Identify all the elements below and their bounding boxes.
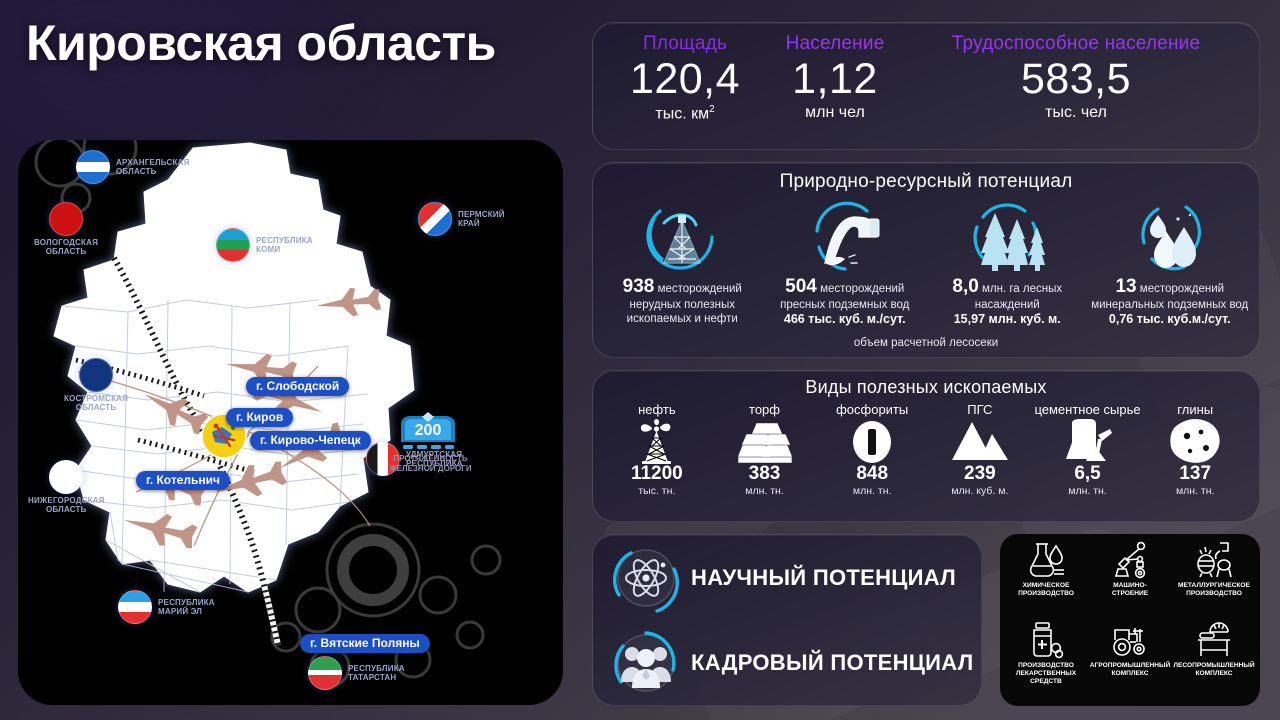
svg-text:200: 200 [415, 422, 442, 439]
industry-label: МАШИНО- СТРОЕНИЕ [1112, 582, 1148, 598]
region-label: ПЕРМСКИЙ КРАЙ [458, 210, 505, 228]
perm-flag [418, 202, 452, 236]
minerals-title: Виды полезных ископаемых [593, 377, 1259, 398]
stat-population-label: Население [786, 33, 885, 55]
tatarstan-flag [308, 656, 342, 690]
industry-item-pharma[interactable]: ПРОИЗВОДСТВО ЛЕКАРСТВЕННЫХ СРЕДСТВ [1004, 620, 1088, 700]
kostroma-flag [79, 358, 113, 392]
potential-item-human[interactable]: КАДРОВЫЙ ПОТЕНЦИАЛ [593, 620, 981, 705]
industry-label: МЕТАЛЛУРГИЧЕСКОЕ ПРОИЗВОДСТВО [1178, 582, 1250, 598]
minerals-panel: Виды полезных ископаемых нефть [592, 370, 1260, 522]
mineral-item-oil: нефть [603, 402, 711, 497]
region-badge-perm[interactable]: ПЕРМСКИЙ КРАЙ [418, 202, 505, 236]
stat-workforce-unit: тыс. чел [1045, 104, 1107, 122]
region-badge-komi[interactable]: РЕСПУБЛИКА КОМИ [216, 228, 313, 262]
city-pill-kirov[interactable]: г. Киров [226, 408, 293, 427]
nrp-desc: пресных подземных вод [780, 298, 909, 312]
atom-icon [607, 539, 685, 617]
mineral-unit: млн. тн. [853, 485, 892, 497]
nrp-desc: минеральных подземных вод [1091, 298, 1248, 312]
nrp-value: 8,0 [952, 276, 978, 297]
region-badge-tatarstan[interactable]: РЕСПУБЛИКА ТАТАРСТАН [308, 656, 405, 690]
region-label: РЕСПУБЛИКА МАРИЙ ЭЛ [158, 598, 215, 616]
nrp-value: 938 [623, 276, 655, 297]
mineral-unit: тыс. тн. [638, 485, 675, 497]
mineral-value: 137 [1179, 464, 1211, 485]
oil-rig-icon [626, 418, 688, 464]
stat-area: Площадь 120,4 тыс. км2 [609, 33, 761, 137]
city-pill-kirovo-chepetsk[interactable]: г. Кирово-Чепецк [250, 431, 371, 450]
city-pill-vyatskie-polyany[interactable]: г. Вятские Поляны [300, 634, 430, 653]
stat-area-unit: тыс. км2 [655, 104, 714, 123]
arhangelsk-flag [76, 150, 110, 184]
komi-flag [216, 228, 250, 262]
cement-bag-icon [1057, 418, 1119, 464]
railway-length-caption: ПРОТЯЖЕННОСТЬ ЖЕЛЕЗНОЙ ДОРОГИ [378, 454, 483, 473]
city-pill-slobodskoy[interactable]: г. Слободской [246, 377, 349, 396]
nizhny-flag [49, 460, 83, 494]
medicine-bottle-icon [1026, 620, 1066, 660]
region-label: КОСТРОМСКАЯ ОБЛАСТЬ [64, 394, 128, 412]
region-label: ВОЛОГОДСКАЯ ОБЛАСТЬ [34, 238, 98, 256]
mineral-unit: млн. куб. м. [951, 485, 1008, 497]
nrp-item-forest: 8,0 млн. га лесных насаждений 15,97 млн.… [926, 197, 1089, 327]
metallurgy-icon [1194, 540, 1234, 580]
railway-length-badge[interactable]: 200 [395, 412, 461, 454]
region-label: РЕСПУБЛИКА ТАТАРСТАН [348, 664, 405, 682]
mineral-value: 848 [856, 464, 888, 485]
nrp-unit: млн. га лесных [982, 283, 1062, 295]
nrp-desc: нерудных полезных ископаемых и нефти [623, 298, 742, 326]
water-drops-icon [1122, 197, 1218, 275]
region-map-card[interactable]: АРХАНГЕЛЬСКАЯ ОБЛАСТЬ ВОЛОГОДСКАЯ ОБЛАСТ… [18, 140, 563, 705]
nrp-value: 13 [1115, 276, 1136, 297]
stat-workforce: Трудоспособное население 583,5 тыс. чел [909, 33, 1243, 137]
oil-derrick-icon [634, 197, 730, 275]
nrp-item-oil: 938 месторождений нерудных полезных иско… [601, 197, 764, 327]
natural-resource-potential-panel: Природно-ресурсный потенциал [592, 162, 1260, 358]
mineral-item-phosphorite: фосфориты 848 млн. тн. [818, 402, 926, 497]
industry-item-machinery[interactable]: МАШИНО- СТРОЕНИЕ [1088, 540, 1172, 620]
water-pipe-icon [797, 197, 893, 275]
stat-population: Население 1,12 млн чел [761, 33, 909, 137]
city-pill-kotelnich[interactable]: г. Котельнич [136, 471, 230, 490]
forest-trees-icon [959, 197, 1055, 275]
region-badge-mariel[interactable]: РЕСПУБЛИКА МАРИЙ ЭЛ [118, 590, 215, 624]
people-icon [607, 624, 685, 702]
mineral-name: фосфориты [836, 402, 908, 417]
industry-label: ПРОИЗВОДСТВО ЛЕКАРСТВЕННЫХ СРЕДСТВ [1016, 662, 1076, 687]
mineral-unit: млн. тн. [1068, 485, 1107, 497]
nrp-item-mineral-water: 13 месторождений минеральных подземных в… [1089, 197, 1252, 327]
region-badge-nizhny[interactable]: НИЖЕГОРОДСКАЯ ОБЛАСТЬ [28, 460, 105, 514]
clay-lump-icon [1164, 418, 1226, 464]
nrp-unit: месторождений [1140, 283, 1224, 295]
phosphorite-icon [841, 418, 903, 464]
natural-resource-subtitle: объем расчетной лесосеки [593, 337, 1259, 349]
mineral-item-clay: глины 137 млн. тн. [1141, 402, 1249, 497]
region-badge-kostroma[interactable]: КОСТРОМСКАЯ ОБЛАСТЬ [64, 358, 128, 412]
nrp-item-fresh-water: 504 месторождений пресных подземных вод … [764, 197, 927, 327]
nrp-extra: 15,97 млн. куб. м. [954, 312, 1061, 326]
stat-population-unit: млн чел [805, 104, 865, 122]
sawmill-icon [1194, 620, 1234, 660]
natural-resource-title: Природно-ресурсный потенциал [593, 171, 1259, 193]
region-label: НИЖЕГОРОДСКАЯ ОБЛАСТЬ [28, 496, 105, 514]
nrp-extra: 0,76 тыс. куб.м./сут. [1109, 312, 1231, 326]
robot-arm-icon [1110, 540, 1150, 580]
potential-panel: НАУЧНЫЙ ПОТЕНЦИАЛ К [592, 534, 982, 706]
region-label: РЕСПУБЛИКА КОМИ [256, 236, 313, 254]
mineral-item-pgs: ПГС 239 млн. куб. м. [926, 402, 1034, 497]
mineral-unit: млн. тн. [1176, 485, 1215, 497]
industry-item-forestry[interactable]: ЛЕСОПРОМЫШЛЕННЫЙ КОМПЛЕКС [1172, 620, 1256, 700]
stat-area-value: 120,4 [630, 57, 740, 102]
mineral-value: 11200 [631, 464, 683, 485]
industry-label: ЛЕСОПРОМЫШЛЕННЫЙ КОМПЛЕКС [1173, 662, 1254, 678]
page-title: Кировская область [26, 14, 496, 72]
tractor-icon [1110, 620, 1150, 660]
mineral-value: 239 [964, 464, 996, 485]
potential-item-scientific[interactable]: НАУЧНЫЙ ПОТЕНЦИАЛ [593, 535, 981, 620]
nrp-unit: месторождений [820, 283, 904, 295]
mineral-unit: млн. тн. [745, 485, 784, 497]
mineral-item-cement: цементное сырье 6,5 млн. тн. [1034, 402, 1142, 497]
mineral-name: ПГС [967, 402, 992, 417]
mineral-name: торф [749, 402, 780, 417]
peat-stack-icon [734, 418, 796, 464]
industry-label: ХИМИЧЕСКОЕ ПРОИЗВОДСТВО [1018, 582, 1074, 598]
stat-population-value: 1,12 [792, 57, 878, 102]
vologda-flag [49, 202, 83, 236]
potential-label: НАУЧНЫЙ ПОТЕНЦИАЛ [691, 565, 956, 591]
nrp-unit: месторождений [658, 283, 742, 295]
nrp-desc: насаждений [952, 298, 1062, 312]
region-badge-arhangelsk[interactable]: АРХАНГЕЛЬСКАЯ ОБЛАСТЬ [76, 150, 190, 184]
stat-workforce-label: Трудоспособное население [952, 33, 1200, 55]
decor-gear [343, 540, 403, 600]
region-badge-vologda[interactable]: ВОЛОГОДСКАЯ ОБЛАСТЬ [34, 202, 98, 256]
train-badge-icon: 200 [395, 412, 461, 454]
mountain-icon [949, 418, 1011, 464]
nrp-extra: 466 тыс. куб. м./сут. [784, 312, 906, 326]
chemical-flask-icon [1026, 540, 1066, 580]
industry-label: АГРОПРОМЫШЛЕННЫЙ КОМПЛЕКС [1090, 662, 1170, 678]
stat-workforce-value: 583,5 [1021, 57, 1131, 102]
key-stats-panel: Площадь 120,4 тыс. км2 Население 1,12 мл… [592, 22, 1260, 150]
mineral-item-peat: торф 383 млн. тн. [711, 402, 819, 497]
mineral-name: глины [1177, 402, 1213, 417]
nrp-value: 504 [785, 276, 817, 297]
industry-sectors-panel: ХИМИЧЕСКОЕ ПРОИЗВОДСТВО МАШИНО- СТРОЕНИЕ [1000, 534, 1260, 706]
mineral-name: нефть [638, 402, 676, 417]
mineral-value: 6,5 [1074, 464, 1100, 485]
mineral-value: 383 [749, 464, 781, 485]
region-label: АРХАНГЕЛЬСКАЯ ОБЛАСТЬ [116, 158, 190, 176]
industry-item-agriculture[interactable]: АГРОПРОМЫШЛЕННЫЙ КОМПЛЕКС [1088, 620, 1172, 700]
stat-area-label: Площадь [643, 33, 727, 55]
mariel-flag [118, 590, 152, 624]
industry-item-metallurgy[interactable]: МЕТАЛЛУРГИЧЕСКОЕ ПРОИЗВОДСТВО [1172, 540, 1256, 620]
mineral-name: цементное сырье [1034, 402, 1140, 417]
potential-label: КАДРОВЫЙ ПОТЕНЦИАЛ [691, 650, 973, 676]
industry-item-chemical[interactable]: ХИМИЧЕСКОЕ ПРОИЗВОДСТВО [1004, 540, 1088, 620]
